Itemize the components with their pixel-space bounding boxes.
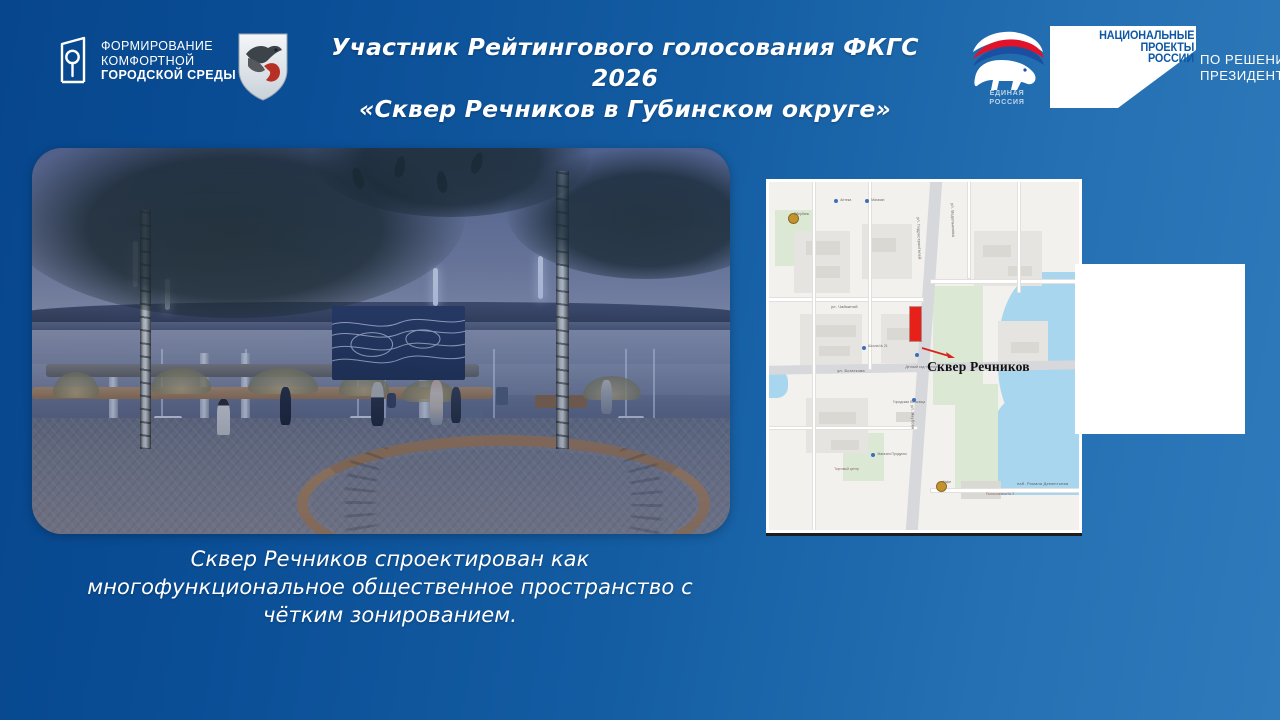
caption-line-2: многофункциональное общественное простра… (48, 574, 732, 602)
caption-line-3: чётким зонированием. (48, 602, 732, 630)
president-decision-text: ПО РЕШЕНИЮ ПРЕЗИДЕНТА (1200, 52, 1280, 84)
fkgs-line-3: ГОРОДСКОЙ СРЕДЫ (101, 68, 236, 83)
united-russia-caption: ЕДИНАЯ РОССИЯ (963, 89, 1051, 107)
map-road (930, 279, 1079, 283)
project-render-image (32, 148, 730, 534)
map-road (769, 297, 924, 302)
project-description: Сквер Речников спроектирован как многофу… (48, 546, 732, 630)
caption-line-1: Сквер Речников спроектирован как (48, 546, 732, 574)
map-road (1017, 182, 1021, 293)
national-projects-badge: НАЦИОНАЛЬНЫЕ ПРОЕКТЫ РОССИИ (1106, 31, 1194, 66)
map-poi-label: Аптека (840, 198, 851, 202)
title-line-1: Участник Рейтингового голосования ФКГС 2… (331, 33, 918, 92)
render-blue-tint (32, 148, 730, 534)
header: ФОРМИРОВАНИЕ КОМФОРТНОЙ ГОРОДСКОЙ СРЕДЫ (0, 0, 1280, 118)
np-right-line-1: ПО РЕШЕНИЮ (1200, 52, 1280, 68)
map-block (794, 231, 850, 294)
map-street-label: ул. Чайкиной (831, 304, 858, 309)
map-canvas[interactable]: ул. Водопьянова ул. Богаткова ул. Гидрос… (769, 182, 1079, 530)
map-building (819, 412, 856, 424)
np-badge-line-3: РОССИИ (1148, 54, 1194, 66)
fkgs-logo-text: ФОРМИРОВАНИЕ КОМФОРТНОЙ ГОРОДСКОЙ СРЕДЫ (101, 39, 236, 83)
qr-code-matrix (1084, 273, 1236, 425)
map-green-area (955, 384, 998, 488)
map-building (887, 328, 912, 340)
map-poi-label: Кафе (943, 480, 952, 484)
map-street-label: наб. Романа Дементьева (1017, 481, 1068, 486)
slide-root: ФОРМИРОВАНИЕ КОМФОРТНОЙ ГОРОДСКОЙ СРЕДЫ (0, 0, 1280, 720)
map-building (812, 266, 840, 278)
er-caption-line-2: РОССИЯ (963, 98, 1051, 107)
map-poi[interactable] (834, 199, 838, 203)
map-building (812, 325, 855, 337)
map-poi[interactable] (915, 353, 919, 357)
fkgs-line-2: КОМФОРТНОЙ (101, 54, 236, 69)
map-poi-label: Магазин (871, 198, 884, 202)
map-poi-label: Поликлиника № 2 (986, 492, 1014, 496)
fkgs-logo: ФОРМИРОВАНИЕ КОМФОРТНОЙ ГОРОДСКОЙ СРЕДЫ (58, 36, 236, 86)
national-projects-logo: НАЦИОНАЛЬНЫЕ ПРОЕКТЫ РОССИИ ПО РЕШЕНИЮ П… (1048, 24, 1272, 110)
map-block (800, 314, 862, 370)
coat-of-arms-shield-icon (234, 30, 292, 102)
map-marker-arrow-icon (921, 346, 957, 358)
map-poi-label: Сбербанк (794, 212, 809, 216)
map-poi-label: Торговый центр (834, 467, 859, 471)
map-poi-label: Магазин Продукты (878, 452, 907, 456)
map-poi-label: Городская больница (893, 400, 925, 404)
map-street-label: ул. Водопьянова (950, 203, 956, 237)
map-poi-label: Школа № 21 (868, 344, 888, 348)
location-map[interactable]: ул. Водопьянова ул. Богаткова ул. Гидрос… (766, 179, 1082, 536)
map-water (992, 391, 1079, 495)
qr-code[interactable] (1075, 264, 1245, 434)
map-poi[interactable] (862, 346, 866, 350)
map-street-label: ул. Якубова (910, 405, 916, 429)
map-location-marker[interactable] (910, 307, 921, 341)
map-road (812, 182, 816, 530)
map-road (868, 182, 872, 370)
map-road (769, 426, 918, 430)
united-russia-bear-icon: ЕДИНАЯ РОССИЯ (963, 26, 1051, 108)
map-street-label: ул. Богаткова (837, 368, 865, 373)
page-title: Участник Рейтингового голосования ФКГС 2… (300, 32, 950, 125)
title-line-2: «Сквер Речников в Губинском округе» (300, 94, 950, 125)
map-building (983, 245, 1011, 257)
map-block (974, 231, 1042, 287)
map-street-label: ул. Гидростроителей (916, 217, 922, 260)
map-park-label: Сквер Речников (927, 359, 1030, 375)
np-right-line-2: ПРЕЗИДЕНТА (1200, 68, 1280, 84)
door-keyhole-icon (58, 36, 92, 86)
fkgs-line-1: ФОРМИРОВАНИЕ (101, 39, 236, 54)
map-building (806, 241, 840, 255)
map-building (871, 238, 896, 252)
map-building (831, 440, 859, 450)
map-road (967, 182, 971, 279)
map-building (1011, 342, 1039, 352)
map-building (819, 346, 850, 356)
